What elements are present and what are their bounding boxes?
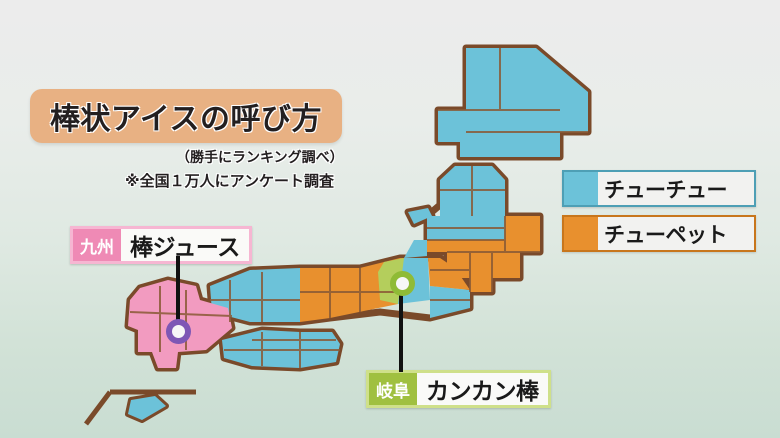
legend-swatch-blue (564, 172, 598, 205)
legend-label-chupetto: チューペット (598, 217, 754, 250)
region-hokkaido (438, 48, 588, 157)
callout-gifu-region: 岐阜 (369, 373, 417, 405)
legend-label-chuchu: チューチュー (598, 172, 754, 205)
region-niigata (404, 240, 427, 258)
subtitle-survey-note: ※全国１万人にアンケート調査 (125, 170, 334, 191)
callout-kyushu-region: 九州 (73, 229, 121, 261)
legend-swatch-orange (564, 217, 598, 250)
title-pill: 棒状アイスの呼び方 (30, 89, 342, 143)
legend: チューチュー チューペット (562, 170, 756, 260)
page-title: 棒状アイスの呼び方 (50, 94, 322, 138)
graphic-stage: 棒状アイスの呼び方 （勝手にランキング調べ） ※全国１万人にアンケート調査 チュ… (0, 0, 780, 438)
callout-gifu: 岐阜 カンカン棒 (366, 370, 551, 408)
region-kanto-north (505, 216, 540, 252)
subtitle-ranking-note: （勝手にランキング調べ） (176, 147, 344, 167)
leader-line-gifu (399, 283, 403, 372)
callout-kyushu: 九州 棒ジュース (70, 226, 252, 264)
callout-gifu-name: カンカン棒 (417, 373, 548, 405)
map-pin-gifu (390, 271, 415, 296)
map-pin-kyushu (166, 319, 191, 344)
legend-item-chupetto: チューペット (562, 215, 756, 252)
callout-kyushu-name: 棒ジュース (121, 229, 249, 261)
legend-item-chuchu: チューチュー (562, 170, 756, 207)
